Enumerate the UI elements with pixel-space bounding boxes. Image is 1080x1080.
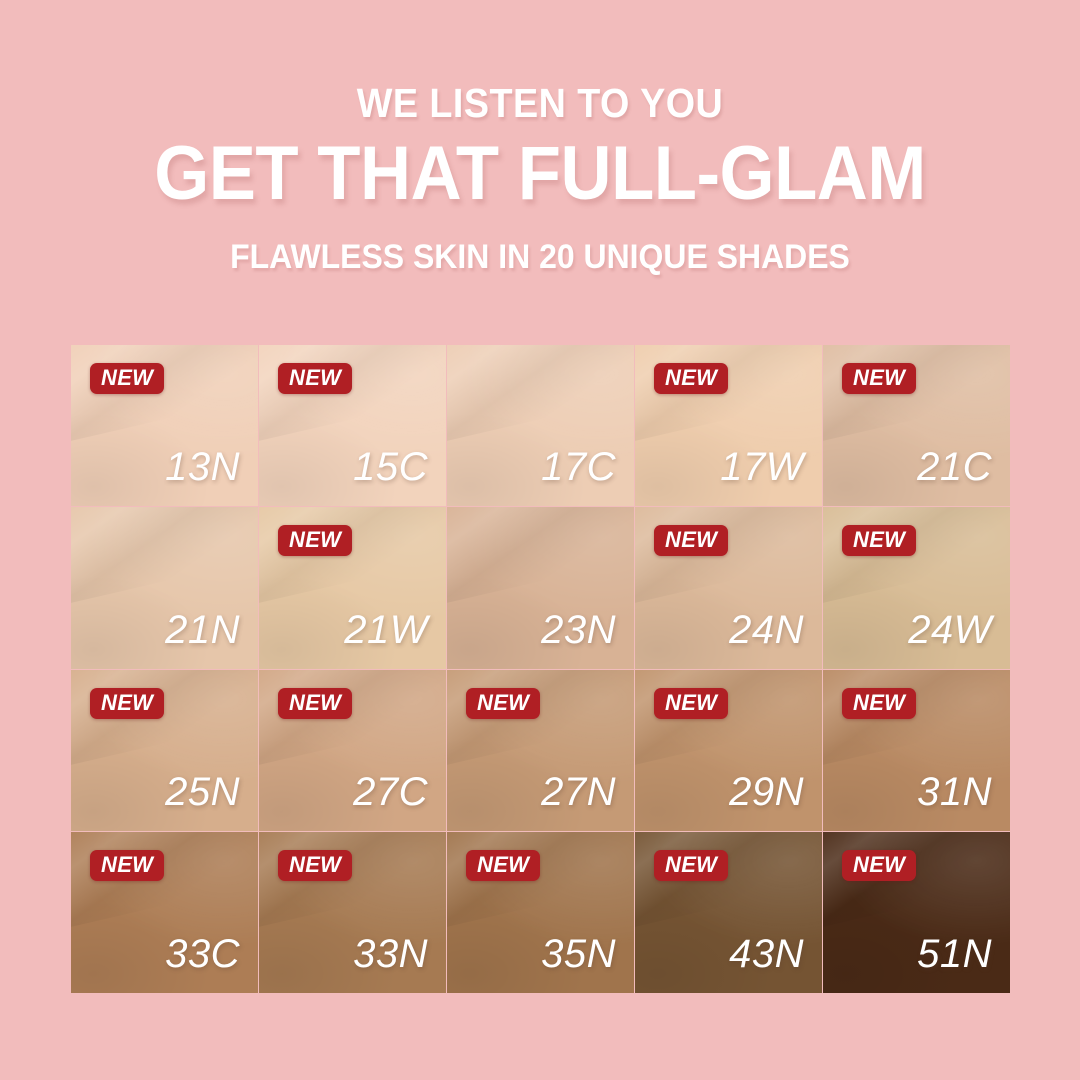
new-badge: NEW bbox=[466, 850, 540, 881]
shade-code-label: 29N bbox=[729, 772, 804, 812]
new-badge: NEW bbox=[654, 363, 728, 394]
swatch-smear-highlight bbox=[259, 507, 446, 608]
shade-swatch[interactable]: NEW21N bbox=[71, 507, 258, 668]
shade-swatch[interactable]: NEW33N bbox=[259, 832, 446, 993]
swatch-smear-highlight bbox=[71, 670, 258, 771]
shade-swatch[interactable]: NEW51N bbox=[823, 832, 1010, 993]
shade-swatch[interactable]: NEW17W bbox=[635, 345, 822, 506]
shade-code-label: 23N bbox=[541, 610, 616, 650]
shade-code-label: 25N bbox=[165, 772, 240, 812]
new-badge: NEW bbox=[278, 688, 352, 719]
new-badge: NEW bbox=[842, 525, 916, 556]
new-badge: NEW bbox=[466, 688, 540, 719]
swatch-smear-highlight bbox=[259, 832, 446, 933]
swatch-smear-highlight bbox=[447, 670, 634, 771]
shade-code-label: 27C bbox=[353, 772, 428, 812]
new-badge: NEW bbox=[654, 850, 728, 881]
eyebrow-text: WE LISTEN TO YOU bbox=[43, 82, 1037, 125]
swatch-smear-highlight bbox=[635, 507, 822, 608]
shade-swatch[interactable]: NEW33C bbox=[71, 832, 258, 993]
swatch-smear-highlight bbox=[635, 345, 822, 446]
swatch-smear-highlight bbox=[71, 345, 258, 446]
shade-swatch[interactable]: NEW31N bbox=[823, 670, 1010, 831]
headline-block: WE LISTEN TO YOU GET THAT FULL-GLAM FLAW… bbox=[0, 82, 1080, 276]
shade-code-label: 51N bbox=[917, 934, 992, 974]
new-badge: NEW bbox=[842, 363, 916, 394]
shade-swatch[interactable]: NEW13N bbox=[71, 345, 258, 506]
shade-swatch[interactable]: NEW23N bbox=[447, 507, 634, 668]
shade-swatch[interactable]: NEW21W bbox=[259, 507, 446, 668]
shade-code-label: 15C bbox=[353, 447, 428, 487]
new-badge: NEW bbox=[842, 688, 916, 719]
new-badge: NEW bbox=[278, 525, 352, 556]
shade-swatch[interactable]: NEW43N bbox=[635, 832, 822, 993]
swatch-smear-highlight bbox=[635, 832, 822, 933]
new-badge: NEW bbox=[278, 363, 352, 394]
shade-grid: NEW13NNEW15CNEW17CNEW17WNEW21CNEW21NNEW2… bbox=[71, 345, 1010, 993]
new-badge: NEW bbox=[90, 850, 164, 881]
swatch-smear-highlight bbox=[259, 345, 446, 446]
shade-code-label: 21C bbox=[917, 447, 992, 487]
swatch-smear-highlight bbox=[447, 507, 634, 608]
shade-code-label: 33C bbox=[165, 934, 240, 974]
swatch-smear-highlight bbox=[823, 670, 1010, 771]
shade-code-label: 33N bbox=[353, 934, 428, 974]
shade-code-label: 24N bbox=[729, 610, 804, 650]
new-badge: NEW bbox=[654, 688, 728, 719]
shade-code-label: 31N bbox=[917, 772, 992, 812]
shade-swatch[interactable]: NEW27C bbox=[259, 670, 446, 831]
swatch-smear-highlight bbox=[635, 670, 822, 771]
shade-code-label: 27N bbox=[541, 772, 616, 812]
shade-code-label: 17W bbox=[720, 447, 804, 487]
shade-swatch[interactable]: NEW27N bbox=[447, 670, 634, 831]
new-badge: NEW bbox=[654, 525, 728, 556]
swatch-smear-highlight bbox=[71, 832, 258, 933]
swatch-smear-highlight bbox=[447, 832, 634, 933]
shade-swatch[interactable]: NEW15C bbox=[259, 345, 446, 506]
new-badge: NEW bbox=[842, 850, 916, 881]
shade-code-label: 35N bbox=[541, 934, 616, 974]
shade-swatch[interactable]: NEW24W bbox=[823, 507, 1010, 668]
shade-swatch[interactable]: NEW24N bbox=[635, 507, 822, 668]
page-title: GET THAT FULL-GLAM bbox=[38, 135, 1042, 213]
shade-swatch[interactable]: NEW29N bbox=[635, 670, 822, 831]
shade-code-label: 43N bbox=[729, 934, 804, 974]
swatch-smear-highlight bbox=[71, 507, 258, 608]
shade-swatch[interactable]: NEW25N bbox=[71, 670, 258, 831]
subheadline-text: FLAWLESS SKIN IN 20 UNIQUE SHADES bbox=[32, 239, 1047, 276]
shade-code-label: 17C bbox=[541, 447, 616, 487]
shade-code-label: 21N bbox=[165, 610, 240, 650]
shade-swatch[interactable]: NEW17C bbox=[447, 345, 634, 506]
swatch-smear-highlight bbox=[823, 345, 1010, 446]
promo-canvas: WE LISTEN TO YOU GET THAT FULL-GLAM FLAW… bbox=[0, 0, 1080, 1080]
shade-swatch[interactable]: NEW35N bbox=[447, 832, 634, 993]
new-badge: NEW bbox=[90, 688, 164, 719]
shade-swatch[interactable]: NEW21C bbox=[823, 345, 1010, 506]
swatch-smear-highlight bbox=[447, 345, 634, 446]
swatch-smear-highlight bbox=[823, 507, 1010, 608]
swatch-smear-highlight bbox=[259, 670, 446, 771]
swatch-smear-highlight bbox=[823, 832, 1010, 933]
shade-code-label: 24W bbox=[908, 610, 992, 650]
new-badge: NEW bbox=[278, 850, 352, 881]
shade-code-label: 13N bbox=[165, 447, 240, 487]
new-badge: NEW bbox=[90, 363, 164, 394]
shade-code-label: 21W bbox=[344, 610, 428, 650]
